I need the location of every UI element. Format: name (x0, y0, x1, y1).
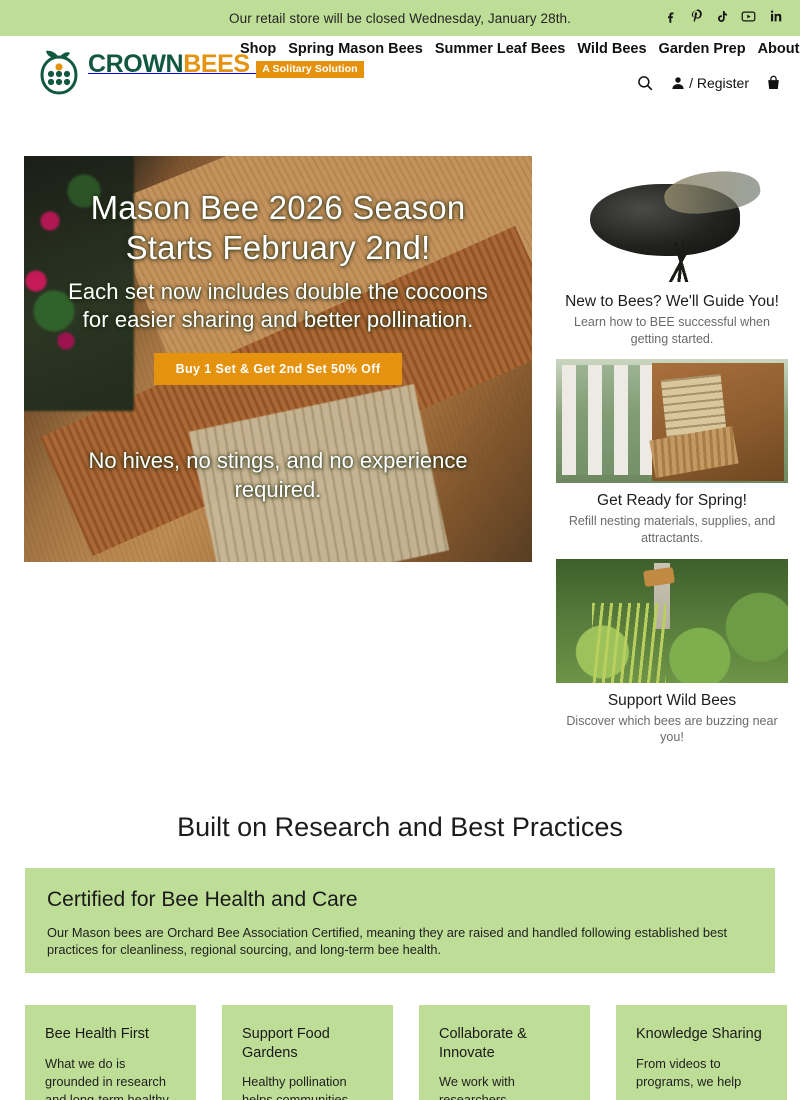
research-section-title: Built on Research and Best Practices (0, 812, 800, 843)
linkedin-icon[interactable] (768, 8, 784, 24)
social-links (663, 8, 784, 24)
facebook-icon[interactable] (663, 9, 678, 24)
youtube-icon[interactable] (740, 9, 757, 24)
nav-item-garden-prep[interactable]: Garden Prep (659, 41, 746, 57)
hero-sub-line1: Each set now includes double the cocoons (44, 278, 512, 307)
value-card-body: Healthy pollination helps communities (242, 1073, 379, 1100)
reeds-detail (592, 603, 666, 683)
hero-headline: Mason Bee 2026 Season Starts February 2n… (44, 188, 512, 268)
value-card-title: Support Food Gardens (242, 1025, 379, 1062)
value-card-bee-health-first[interactable]: Bee Health First What we do is grounded … (25, 1005, 196, 1100)
promo-image-bee-house (556, 359, 788, 483)
hero-footer-line1: No hives, no stings, and no experience (44, 446, 512, 475)
value-card-list: Bee Health First What we do is grounded … (25, 1005, 787, 1100)
promo-description: Learn how to BEE successful when getting… (556, 314, 788, 347)
cart-icon[interactable] (765, 74, 782, 92)
hero-cta-button[interactable]: Buy 1 Set & Get 2nd Set 50% Off (154, 353, 403, 385)
value-card-collaborate-innovate[interactable]: Collaborate & Innovate We work with rese… (419, 1005, 590, 1100)
hero-subheadline: Each set now includes double the cocoons… (44, 278, 512, 335)
nav-item-spring-mason-bees[interactable]: Spring Mason Bees (288, 41, 423, 57)
crown-bees-logo-icon (36, 48, 82, 98)
promo-card-list: New to Bees? We'll Guide You! Learn how … (556, 160, 788, 758)
value-card-body: From videos to programs, we help (636, 1055, 773, 1091)
logo-tagline: A Solitary Solution (256, 61, 363, 78)
search-icon[interactable] (636, 74, 654, 92)
promo-image-bee (556, 160, 788, 284)
promo-title: Get Ready for Spring! (556, 492, 788, 510)
deck-rail-detail (562, 365, 654, 475)
main-navigation: ShopSpring Mason BeesSummer Leaf BeesWil… (240, 36, 640, 62)
value-card-body: We work with researchers (439, 1073, 576, 1100)
tiktok-icon[interactable] (715, 9, 729, 24)
promo-description: Refill nesting materials, supplies, and … (556, 513, 788, 546)
hero-headline-line2: Starts February 2nd! (44, 228, 512, 268)
pinterest-icon[interactable] (689, 9, 704, 24)
promo-title: New to Bees? We'll Guide You! (556, 293, 788, 311)
value-card-title: Collaborate & Innovate (439, 1025, 576, 1062)
hero-content: Mason Bee 2026 Season Starts February 2n… (24, 156, 532, 562)
user-icon (670, 75, 686, 91)
promo-description: Discover which bees are buzzing near you… (556, 713, 788, 746)
account-register-link[interactable]: / Register (670, 75, 749, 91)
value-card-support-food-gardens[interactable]: Support Food Gardens Healthy pollination… (222, 1005, 393, 1100)
hero-banner[interactable]: Mason Bee 2026 Season Starts February 2n… (24, 156, 532, 562)
certified-banner: Certified for Bee Health and Care Our Ma… (25, 868, 775, 973)
hero-headline-line1: Mason Bee 2026 Season (44, 188, 512, 228)
nav-item-wild-bees[interactable]: Wild Bees (577, 41, 646, 57)
register-label: / Register (689, 75, 749, 91)
hero-sub-line2: for easier sharing and better pollinatio… (44, 306, 512, 335)
bee-legs-detail (606, 242, 756, 282)
logo-word-crown: CROWN (88, 50, 183, 78)
promo-card-new-to-bees[interactable]: New to Bees? We'll Guide You! Learn how … (556, 160, 788, 347)
promo-card-support-wild-bees[interactable]: Support Wild Bees Discover which bees ar… (556, 559, 788, 746)
promo-image-garden (556, 559, 788, 683)
value-card-title: Knowledge Sharing (636, 1025, 773, 1044)
nav-item-about[interactable]: About (758, 41, 800, 57)
certified-body: Our Mason bees are Orchard Bee Associati… (47, 924, 753, 959)
promo-card-get-ready-for-spring[interactable]: Get Ready for Spring! Refill nesting mat… (556, 359, 788, 546)
hero-footer-text: No hives, no stings, and no experience r… (44, 446, 512, 504)
announcement-bar: Our retail store will be closed Wednesda… (0, 0, 800, 36)
value-card-title: Bee Health First (45, 1025, 182, 1044)
site-header: CROWNBEES A Solitary Solution ShopSpring… (0, 36, 800, 120)
announcement-text: Our retail store will be closed Wednesda… (229, 11, 571, 26)
nav-item-shop[interactable]: Shop (240, 41, 276, 57)
value-card-body: What we do is grounded in research and l… (45, 1055, 182, 1100)
hero-footer-line2: required. (44, 475, 512, 504)
header-tools: / Register (636, 74, 782, 92)
nav-item-summer-leaf-bees[interactable]: Summer Leaf Bees (435, 41, 566, 57)
value-card-knowledge-sharing[interactable]: Knowledge Sharing From videos to program… (616, 1005, 787, 1100)
certified-title: Certified for Bee Health and Care (47, 888, 753, 912)
promo-title: Support Wild Bees (556, 692, 788, 710)
